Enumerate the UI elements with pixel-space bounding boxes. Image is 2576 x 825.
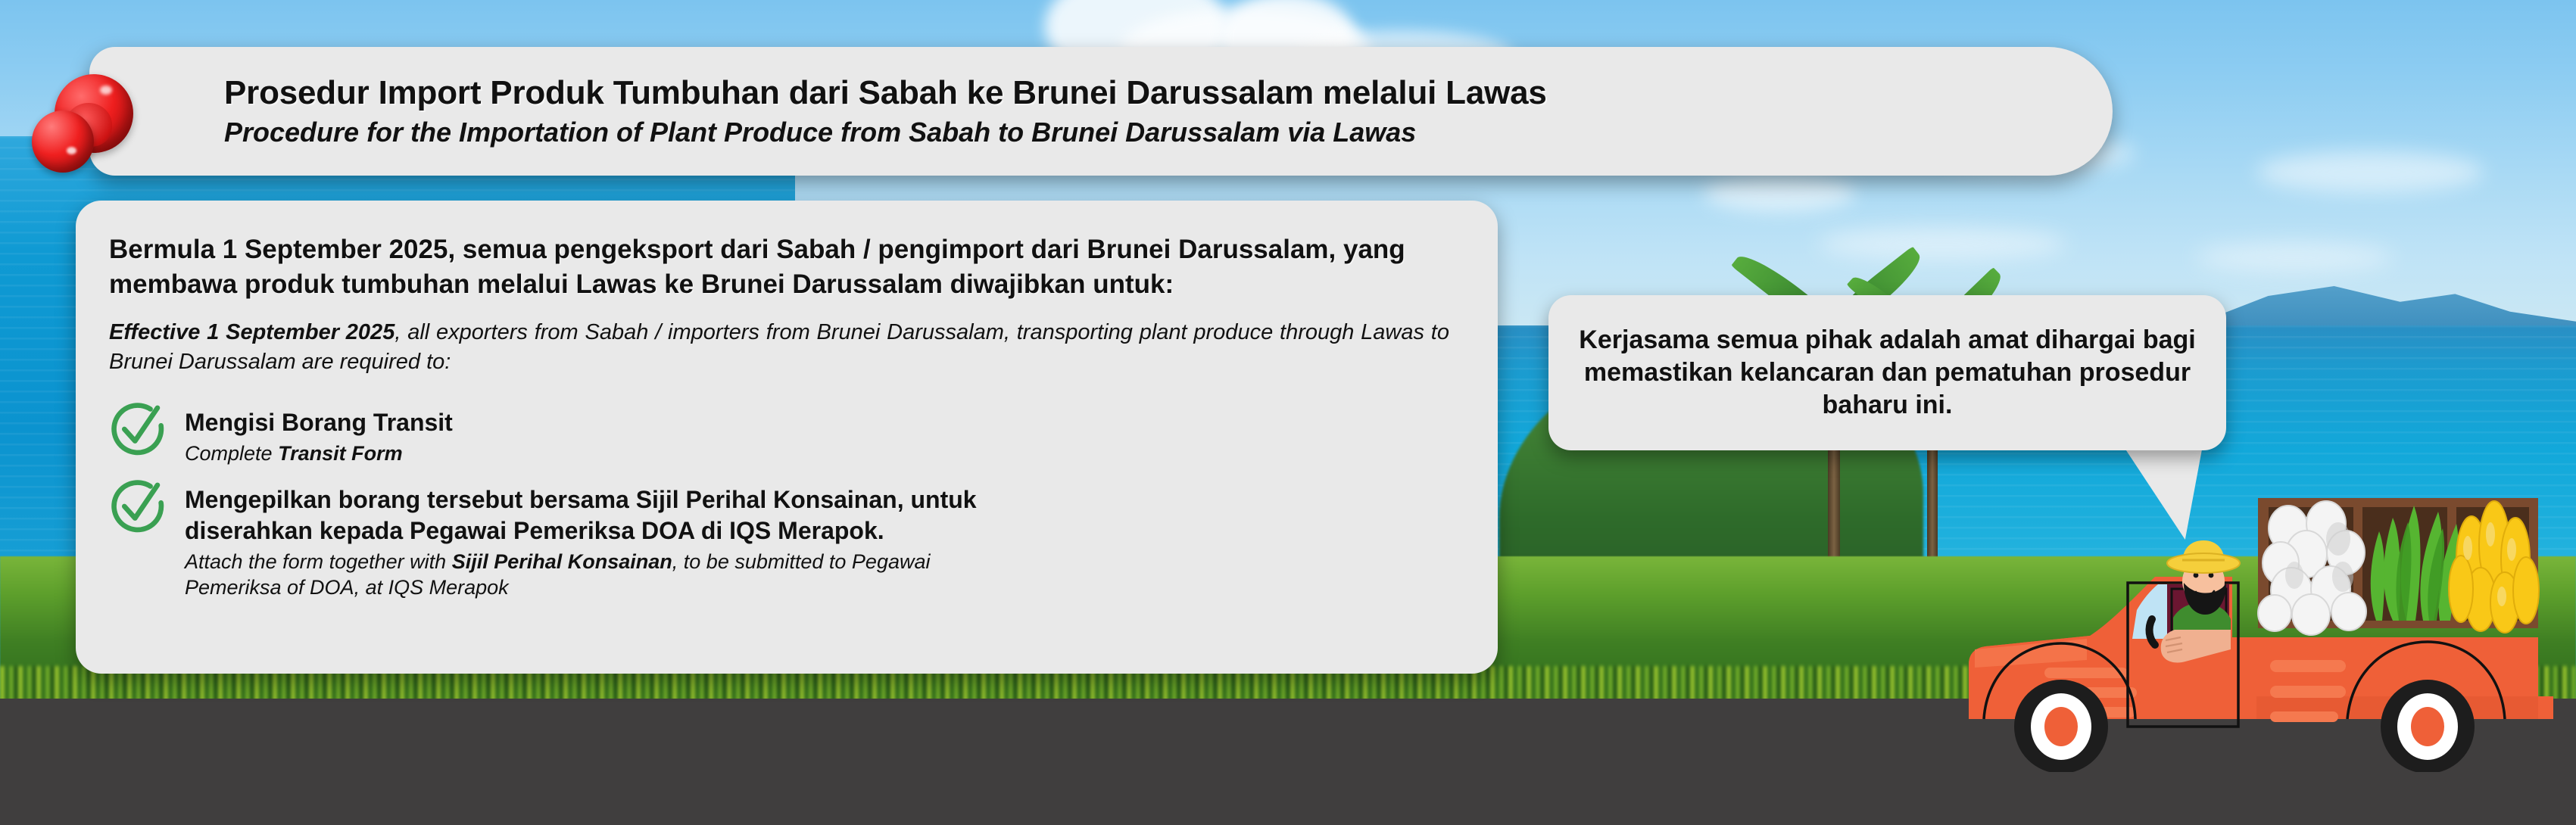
- checklist-item-en: Complete Transit Form: [185, 441, 453, 466]
- intro-paragraph-en: Effective 1 September 2025, all exporter…: [109, 318, 1461, 377]
- orange-pickup-truck-icon: [1938, 469, 2576, 772]
- pushpin-icon: [32, 111, 94, 173]
- checklist-item: Mengepilkan borang tersebut bersama Siji…: [109, 480, 1461, 600]
- checklist-en-bold: Transit Form: [278, 442, 403, 465]
- pushpin-group: [18, 64, 147, 185]
- checklist-item-bm: Mengisi Borang Transit: [185, 407, 453, 437]
- page-subtitle: Procedure for the Importation of Plant P…: [224, 117, 2067, 148]
- green-check-circle-icon: [109, 400, 168, 459]
- checklist-en-plain: Attach the form together with: [185, 550, 452, 573]
- checklist-item-en: Attach the form together with Sijil Peri…: [185, 549, 1018, 601]
- cloud-icon: [1817, 227, 2067, 260]
- intro-lead-en: Effective 1 September 2025: [109, 320, 395, 344]
- cloud-icon: [2196, 242, 2393, 272]
- green-check-circle-icon: [109, 477, 168, 536]
- checklist-en-plain: Complete: [185, 442, 278, 465]
- checklist-item-text: Mengisi Borang Transit Complete Transit …: [185, 403, 453, 467]
- cloud-icon: [2256, 151, 2484, 193]
- checklist: Mengisi Borang Transit Complete Transit …: [109, 403, 1461, 601]
- checklist-en-bold: Sijil Perihal Konsainan: [452, 550, 672, 573]
- intro-paragraph-bm: Bermula 1 September 2025, semua pengeksp…: [109, 232, 1461, 301]
- checklist-item-text: Mengepilkan borang tersebut bersama Siji…: [185, 480, 1078, 600]
- title-card: Prosedur Import Produk Tumbuhan dari Sab…: [89, 47, 2113, 176]
- poster-canvas: Prosedur Import Produk Tumbuhan dari Sab…: [0, 0, 2576, 825]
- checklist-item: Mengisi Borang Transit Complete Transit …: [109, 403, 1461, 467]
- intro-lead-bm: Bermula 1 September 2025,: [109, 235, 455, 264]
- checklist-item-bm: Mengepilkan borang tersebut bersama Siji…: [185, 484, 1078, 546]
- body-card: Bermula 1 September 2025, semua pengeksp…: [76, 201, 1498, 674]
- speech-bubble: Kerjasama semua pihak adalah amat diharg…: [1548, 295, 2226, 450]
- cloud-icon: [1704, 174, 1855, 212]
- speech-bubble-text: Kerjasama semua pihak adalah amat diharg…: [1574, 324, 2200, 421]
- page-title: Prosedur Import Produk Tumbuhan dari Sab…: [224, 75, 2067, 111]
